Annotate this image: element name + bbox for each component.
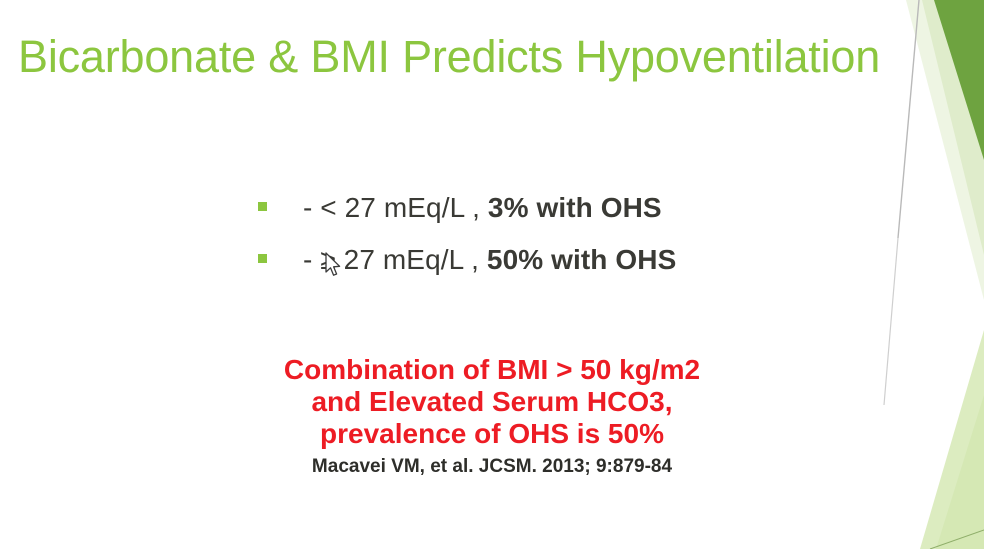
bullet-text: - < 27 mEq/L , 3% with OHS [303, 192, 662, 224]
emphasis-line-3: prevalence of OHS is 50% [0, 418, 984, 450]
square-bullet-icon [258, 254, 267, 263]
list-item: - ≥ 27 mEq/L , 50% with OHS [258, 244, 858, 296]
mouse-cursor-icon [325, 252, 343, 278]
citation-text: Macavei VM, et al. JCSM. 2013; 9:879-84 [0, 456, 984, 478]
presentation-slide: Bicarbonate & BMI Predicts Hypoventilati… [0, 0, 984, 549]
bullet-strong-text: 50% with OHS [487, 244, 676, 275]
emphasis-text-block: Combination of BMI > 50 kg/m2 and Elevat… [0, 354, 984, 450]
slide-title: Bicarbonate & BMI Predicts Hypoventilati… [18, 33, 968, 80]
list-item: - < 27 mEq/L , 3% with OHS [258, 192, 858, 244]
bullet-list: - < 27 mEq/L , 3% with OHS - ≥ 27 mEq/L … [258, 192, 858, 296]
bullet-text: - ≥ 27 mEq/L , 50% with OHS [303, 244, 676, 276]
bullet-lead-text: - < 27 mEq/L , [303, 192, 488, 223]
square-bullet-icon [258, 202, 267, 211]
emphasis-line-1: Combination of BMI > 50 kg/m2 [0, 354, 984, 386]
emphasis-line-2: and Elevated Serum HCO3, [0, 386, 984, 418]
bullet-strong-text: 3% with OHS [488, 192, 662, 223]
